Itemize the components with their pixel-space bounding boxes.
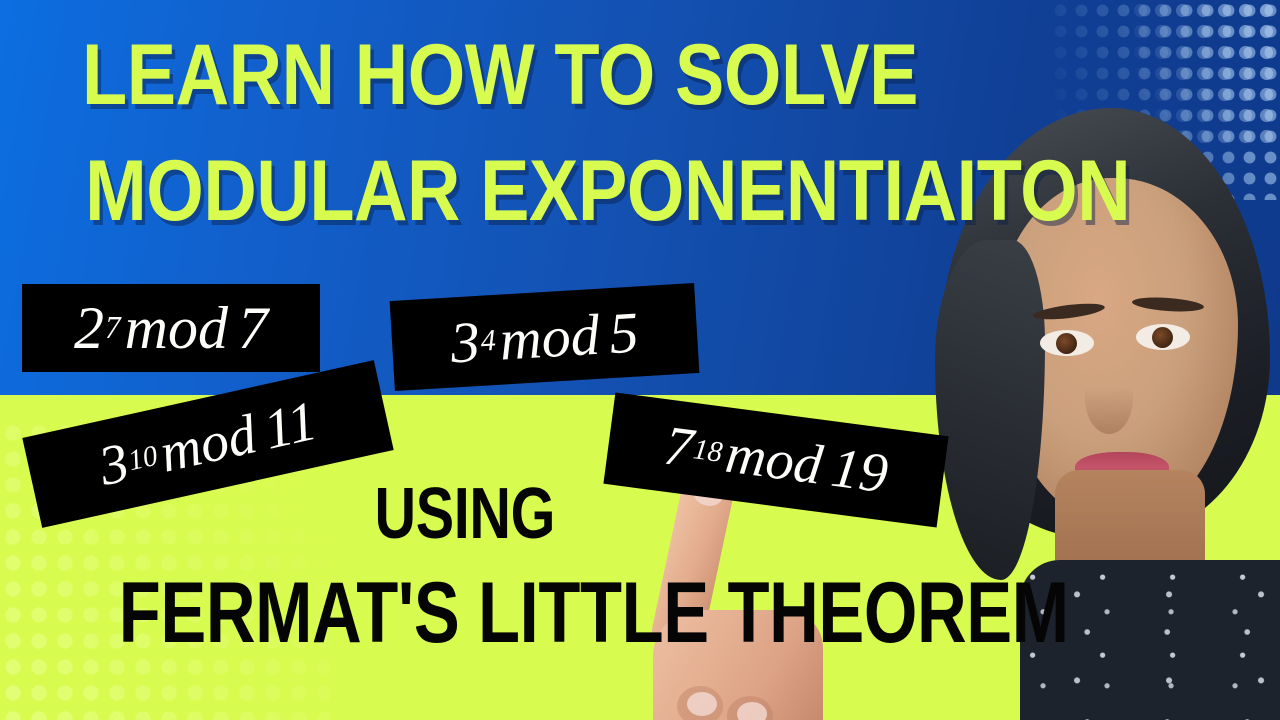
chip-2-operator: mod xyxy=(498,300,602,373)
headline-line-2: MODULAR EXPONENTIAITON xyxy=(0,148,1000,234)
eye-left xyxy=(1040,330,1094,356)
iris-left xyxy=(1056,333,1077,354)
headline-line-1: LEARN HOW TO SOLVE xyxy=(0,32,1000,118)
fingernail xyxy=(737,702,767,720)
bottom-headline-line-2: FERMAT'S LITTLE THEOREM xyxy=(0,570,960,656)
chip-2-base: 3 xyxy=(449,307,482,376)
chip-3-exponent: 10 xyxy=(129,455,157,461)
math-expression-chip-2: 34mod5 xyxy=(390,283,700,391)
hair-side-strand xyxy=(935,240,1045,580)
chip-4-exponent: 18 xyxy=(693,449,722,453)
chip-2-modulus: 5 xyxy=(607,298,640,367)
bottom-headline-line-2-text: FERMAT'S LITTLE THEOREM xyxy=(119,570,1069,656)
chip-3-operator: mod xyxy=(154,402,262,485)
chip-3-modulus: 11 xyxy=(258,389,322,463)
bottom-headline-line-1-text: USING xyxy=(375,478,555,550)
headline-line-2-text: MODULAR EXPONENTIAITON xyxy=(85,148,1130,234)
nose xyxy=(1085,362,1133,434)
iris-right xyxy=(1152,327,1173,348)
eye-right xyxy=(1136,324,1190,350)
bottom-headline-line-1: USING xyxy=(0,478,930,550)
chip-1-modulus: 7 xyxy=(238,294,268,363)
chip-4-base: 7 xyxy=(661,414,697,481)
chip-1-base: 2 xyxy=(74,294,104,363)
video-thumbnail: LEARN HOW TO SOLVE MODULAR EXPONENTIAITO… xyxy=(0,0,1280,720)
chip-2-exponent: 4 xyxy=(481,340,496,341)
headline-line-1-text: LEARN HOW TO SOLVE xyxy=(82,32,918,118)
fingernail xyxy=(687,692,717,716)
math-expression-chip-1: 27mod7 xyxy=(22,284,320,372)
chip-1-operator: mod xyxy=(125,294,228,363)
